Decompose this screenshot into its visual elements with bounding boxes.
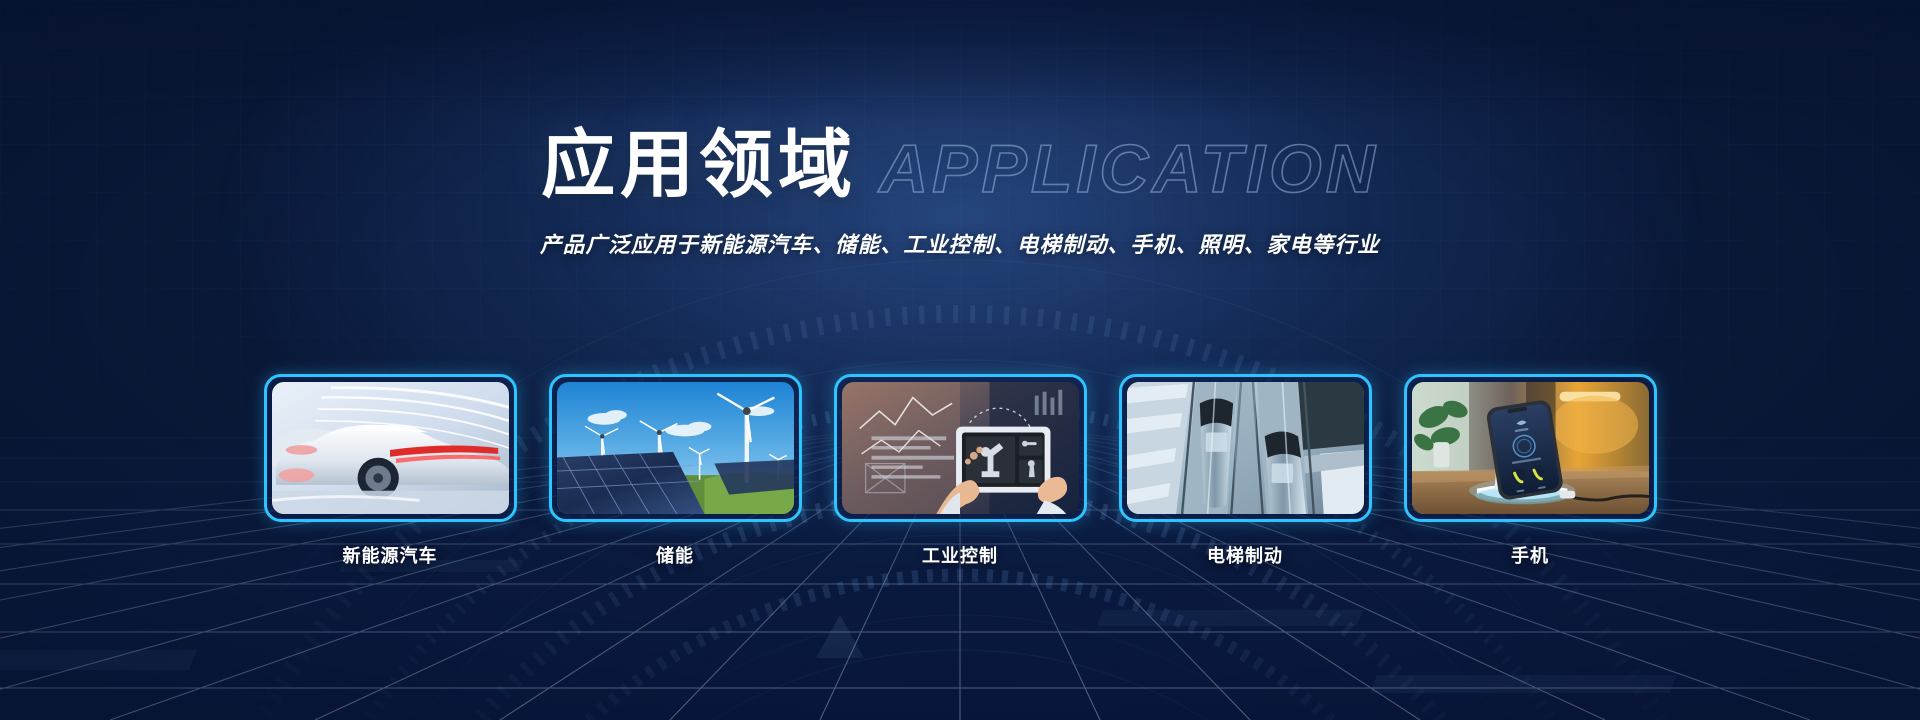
energy-storage-photo [557,382,794,514]
elevator-braking-photo [1127,382,1364,514]
card-label: 工业控制 [834,542,1087,568]
page-title: 应用领域 [541,128,857,202]
application-card-mobile-phone[interactable]: 手机 [1404,374,1657,568]
card-frame [1404,374,1657,522]
card-label: 储能 [549,542,802,568]
card-label: 手机 [1404,542,1657,568]
card-frame [264,374,517,522]
page-title-english: APPLICATION [879,135,1379,203]
card-label: 电梯制动 [1119,542,1372,568]
application-card-list: 新能源汽车 [0,374,1920,568]
card-frame [1119,374,1372,522]
mobile-phone-photo [1412,382,1649,514]
card-label: 新能源汽车 [264,542,517,568]
card-frame [549,374,802,522]
application-card-new-energy-vehicle[interactable]: 新能源汽车 [264,374,517,568]
banner-header: 应用领域APPLICATION 产品广泛应用于新能源汽车、储能、工业控制、电梯制… [0,0,1920,259]
application-card-energy-storage[interactable]: 储能 [549,374,802,568]
title-row: 应用领域APPLICATION [541,128,1379,202]
application-card-elevator-braking[interactable]: 电梯制动 [1119,374,1372,568]
new-energy-vehicle-photo [272,382,509,514]
industrial-control-photo [842,382,1079,514]
application-card-industrial-control[interactable]: 工业控制 [834,374,1087,568]
application-banner: 应用领域APPLICATION 产品广泛应用于新能源汽车、储能、工业控制、电梯制… [0,0,1920,720]
banner-subtitle: 产品广泛应用于新能源汽车、储能、工业控制、电梯制动、手机、照明、家电等行业 [0,228,1920,259]
card-frame [834,374,1087,522]
